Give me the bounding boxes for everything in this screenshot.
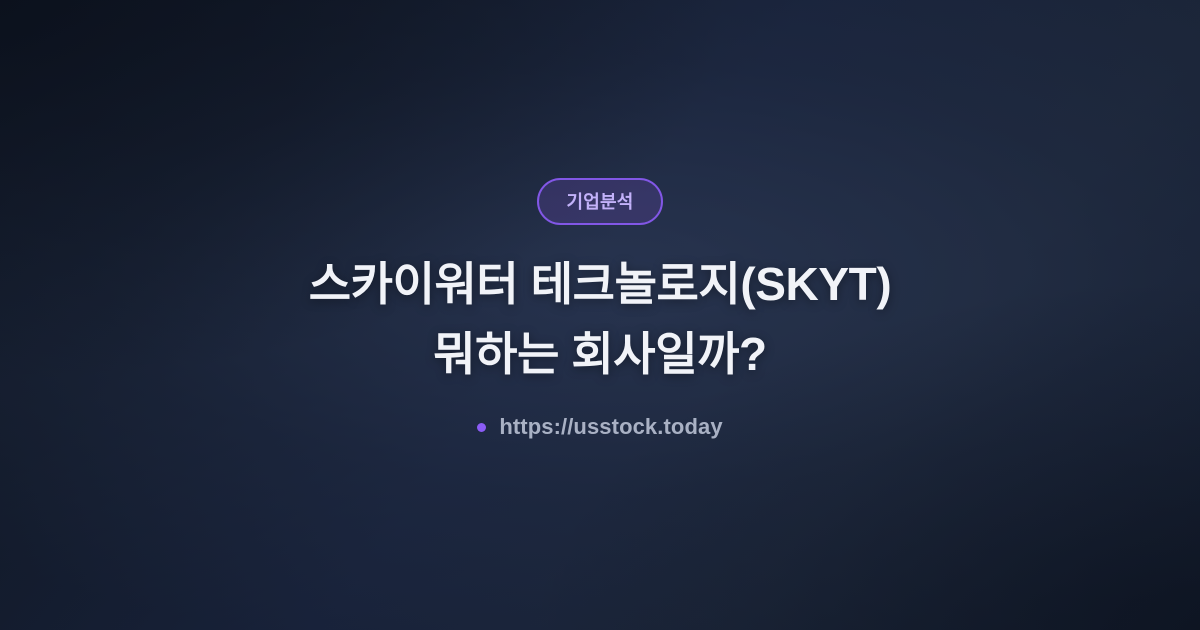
category-badge-label: 기업분석 <box>566 193 633 211</box>
page-title: 스카이워터 테크놀로지(SKYT) 뭐하는 회사일까? <box>309 249 892 389</box>
category-badge[interactable]: 기업분석 <box>537 178 662 225</box>
bullet-dot-icon <box>477 423 486 432</box>
site-url-text[interactable]: https://usstock.today <box>499 416 722 438</box>
page-title-line-1: 스카이워터 테크놀로지(SKYT) <box>309 249 892 319</box>
og-share-card: 기업분석 스카이워터 테크놀로지(SKYT) 뭐하는 회사일까? https:/… <box>0 0 1200 630</box>
page-title-line-2: 뭐하는 회사일까? <box>309 319 892 389</box>
card-content: 기업분석 스카이워터 테크놀로지(SKYT) 뭐하는 회사일까? https:/… <box>0 178 1200 438</box>
site-url-row[interactable]: https://usstock.today <box>477 416 722 438</box>
